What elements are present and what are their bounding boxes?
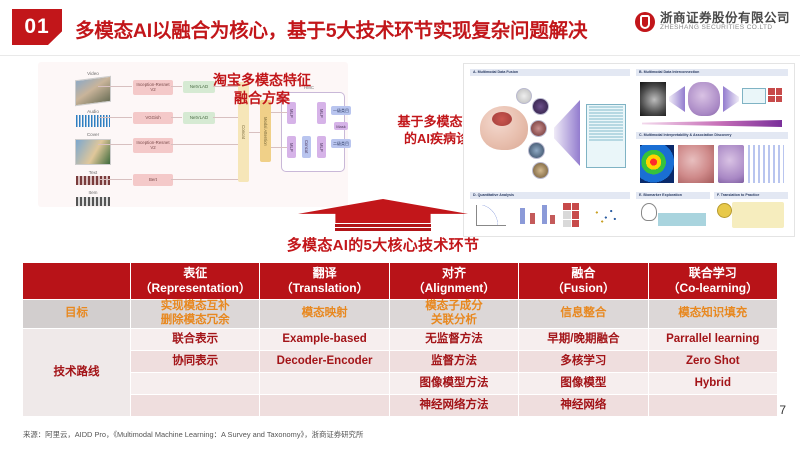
panel-d: D. Quantitative Analysis (470, 192, 630, 232)
logo-text: 浙商证券股份有限公司 ZHESHANG SECURITIES CO.LTD (660, 12, 790, 32)
mlp-label-1: MLP (289, 109, 294, 118)
row-label-tech: 技术路线 (23, 329, 131, 417)
left-caption-line2: 融合方案 (192, 90, 332, 108)
up-arrow (298, 199, 468, 235)
header-colearning: 联合学习 （Co-learning） (648, 263, 777, 300)
modality-audio: Audio (62, 110, 124, 128)
row-label-goal: 目标 (23, 300, 131, 329)
header-translation-cn: 翻译 (260, 266, 388, 281)
goal-representation: 实现模态互补 删除模态冗余 (131, 300, 260, 329)
modality-video-label: Video (62, 72, 124, 77)
pooling-netvlad-2: NetVLAD (183, 112, 215, 124)
tech-3-translation (260, 373, 389, 395)
table-header-row: 表征 （Representation） 翻译 （Translation） 对齐 … (23, 263, 778, 300)
table-row-tech-4: 神经网络方法 神经网络 (23, 395, 778, 417)
table-body: 目标 实现模态互补 删除模态冗余 模态映射 模态子成分 关联分析 信息整合 模态… (23, 300, 778, 417)
panel-a-title: A. Multimodal Data Fusion (470, 69, 630, 76)
panel-a-body (470, 76, 630, 187)
hmc-concat-block: Concat (302, 136, 311, 158)
modality-text-label: Text (62, 171, 124, 176)
tech-2-alignment: 监督方法 (389, 351, 518, 373)
header-fusion: 融合 （Fusion） (519, 263, 648, 300)
arrow-label: 多模态AI的5大核心技术环节 (248, 234, 518, 255)
goal-translation: 模态映射 (260, 300, 389, 329)
panel-c-body (636, 139, 788, 187)
arrow-head-shape (298, 199, 468, 223)
header-fusion-cn: 融合 (519, 266, 647, 281)
tech-1-alignment: 无监督方法 (389, 329, 518, 351)
tech-3-fusion: 图像模型 (519, 373, 648, 395)
panel-b-body (636, 76, 788, 127)
tech-2-fusion: 多核学习 (519, 351, 648, 373)
video-thumbnail (75, 75, 111, 105)
header-representation-en: （Representation） (131, 281, 259, 296)
encoder-bert: Bert (133, 174, 173, 186)
mlp-label-2: MLP (289, 143, 294, 152)
table-row-tech-2: 协同表示 Decoder-Encoder 监督方法 多核学习 Zero Shot (23, 351, 778, 373)
mlp-block-2: MLP (287, 136, 296, 158)
encoder-inception-1: Inception-Resnet V2 (133, 80, 173, 95)
mlp-label-4: MLP (319, 143, 324, 152)
header-alignment-en: （Alignment） (390, 281, 518, 296)
panel-b-title: B. Multimodal Data Interconnection (636, 69, 788, 76)
header-representation: 表征 （Representation） (131, 263, 260, 300)
header-fusion-en: （Fusion） (519, 281, 647, 296)
panel-d-title: D. Quantitative Analysis (470, 192, 630, 199)
panel-a: A. Multimodal Data Fusion (470, 69, 630, 187)
header-alignment-cn: 对齐 (390, 266, 518, 281)
header-alignment: 对齐 （Alignment） (389, 263, 518, 300)
table-row-tech-3: 图像模型方法 图像模型 Hybrid (23, 373, 778, 395)
modality-audio-label: Audio (62, 110, 124, 115)
output-level1: 一级类目 (331, 106, 351, 115)
goal-fusion: 信息整合 (519, 300, 648, 329)
modal-attention-block: Modal Attention (260, 100, 271, 162)
item-strip-icon (76, 197, 110, 206)
left-figure-caption: 淘宝多模态特征 融合方案 (192, 72, 332, 107)
tech-4-colearning (648, 395, 777, 417)
arrow-tail-line-2 (335, 228, 431, 231)
five-pillars-table: 表征 （Representation） 翻译 （Translation） 对齐 … (22, 262, 778, 417)
encoder-inception-2: Inception-Resnet V2 (133, 138, 173, 153)
table-row-tech-1: 技术路线 联合表示 Example-based 无监督方法 早期/晚期融合 Pa… (23, 329, 778, 351)
output-level2: 二级类目 (331, 139, 351, 148)
tech-2-colearning: Zero Shot (648, 351, 777, 373)
goal-alignment: 模态子成分 关联分析 (389, 300, 518, 329)
tech-4-translation (260, 395, 389, 417)
tech-1-fusion: 早期/晚期融合 (519, 329, 648, 351)
tech-4-representation (131, 395, 260, 417)
tech-2-representation: 协同表示 (131, 351, 260, 373)
modality-inputs: Video Audio Cover Text Item (62, 72, 124, 211)
multimodal-medical-figure: A. Multimodal Data Fusion B. Multimodal … (463, 63, 795, 237)
cover-thumbnail (75, 139, 111, 165)
table-header: 表征 （Representation） 翻译 （Translation） 对齐 … (23, 263, 778, 300)
page-title: 多模态AI以融合为核心，基于5大技术环节实现复杂问题解决 (75, 12, 620, 44)
header-representation-cn: 表征 (131, 266, 259, 281)
goal-representation-line1: 实现模态互补 (131, 300, 259, 314)
concat-label: Concat (241, 125, 246, 139)
tech-1-colearning: Parrallel learning (648, 329, 777, 351)
header-divider (0, 55, 800, 56)
header-colearning-cn: 联合学习 (649, 266, 777, 281)
output-mask: Mask (334, 122, 348, 130)
tech-4-alignment: 神经网络方法 (389, 395, 518, 417)
panel-e: E. Biomarker Exploration (636, 192, 710, 232)
prediction-table (586, 104, 626, 168)
panel-b: B. Multimodal Data Interconnection (636, 69, 788, 127)
panel-e-title: E. Biomarker Exploration (636, 192, 710, 199)
modality-cover-label: Cover (62, 133, 124, 138)
modality-item: Item (62, 191, 124, 206)
panel-e-body (636, 199, 710, 232)
header-translation: 翻译 （Translation） (260, 263, 389, 300)
slide-header: 01 多模态AI以融合为核心，基于5大技术环节实现复杂问题解决 浙商证券股份有限… (0, 0, 800, 56)
logo-name-en: ZHESHANG SECURITIES CO.LTD (660, 25, 790, 32)
encoder-vggish: VGGish (133, 112, 173, 124)
panel-d-body (470, 199, 630, 232)
company-logo: 浙商证券股份有限公司 ZHESHANG SECURITIES CO.LTD (635, 12, 790, 32)
logo-mark-icon (635, 12, 655, 32)
tech-2-translation: Decoder-Encoder (260, 351, 389, 373)
text-strip-icon (76, 176, 110, 185)
arrow-tail-line-1 (335, 224, 431, 227)
left-caption-line1: 淘宝多模态特征 (192, 72, 332, 90)
panel-c: C. Multimodal Interpretability & Associa… (636, 132, 788, 187)
tech-1-translation: Example-based (260, 329, 389, 351)
tech-3-colearning: Hybrid (648, 373, 777, 395)
slide-root: 01 多模态AI以融合为核心，基于5大技术环节实现复杂问题解决 浙商证券股份有限… (0, 0, 800, 450)
header-row-label (23, 263, 131, 300)
table-row-goal: 目标 实现模态互补 删除模态冗余 模态映射 模态子成分 关联分析 信息整合 模态… (23, 300, 778, 329)
page-number: 7 (779, 403, 786, 417)
source-note: 来源：阿里云，AIDD Pro，《Multimodal Machine Lear… (23, 429, 363, 440)
patient-head-illustration (480, 106, 528, 150)
panel-f-body (714, 199, 788, 232)
modal-attention-label: Modal Attention (263, 117, 268, 146)
mlp-label-3: MLP (319, 109, 324, 118)
tech-3-alignment: 图像模型方法 (389, 373, 518, 395)
hmc-concat-label: Concat (304, 140, 309, 153)
mlp-block-4: MLP (317, 136, 326, 158)
tech-1-representation: 联合表示 (131, 329, 260, 351)
panel-c-title: C. Multimodal Interpretability & Associa… (636, 132, 788, 139)
panel-f-title: F. Translation to Practice (714, 192, 788, 199)
header-translation-en: （Translation） (260, 281, 388, 296)
goal-colearning: 模态知识填充 (648, 300, 777, 329)
modality-item-label: Item (62, 191, 124, 196)
goal-representation-line2: 删除模态冗余 (131, 314, 259, 328)
panel-f: F. Translation to Practice (714, 192, 788, 232)
modality-cover: Cover (62, 133, 124, 165)
goal-alignment-line1: 模态子成分 (390, 300, 518, 314)
modality-video: Video (62, 72, 124, 104)
header-colearning-en: （Co-learning） (649, 281, 777, 296)
goal-alignment-line2: 关联分析 (390, 314, 518, 328)
tech-3-representation (131, 373, 260, 395)
tech-4-fusion: 神经网络 (519, 395, 648, 417)
section-number-badge: 01 (12, 9, 62, 45)
